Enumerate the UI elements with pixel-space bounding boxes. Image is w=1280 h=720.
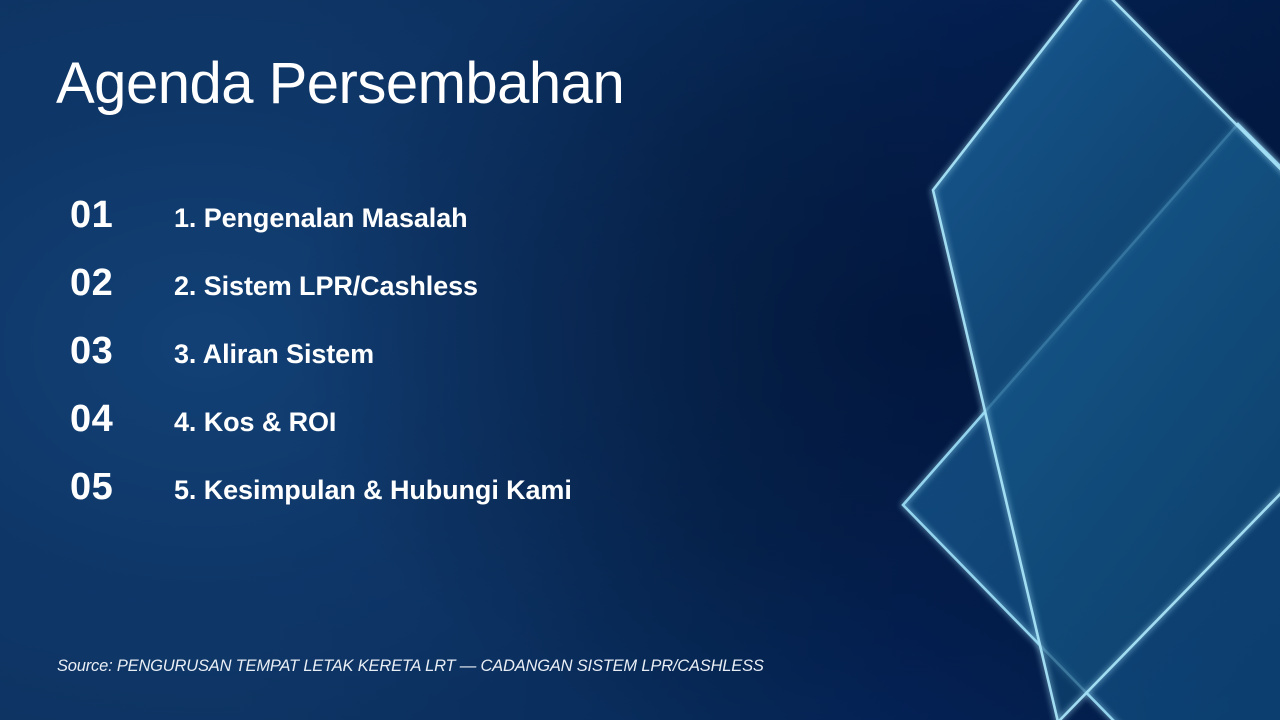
agenda-list: 01 1. Pengenalan Masalah 02 2. Sistem LP… — [56, 196, 756, 536]
agenda-item-label: 2. Sistem LPR/Cashless — [174, 273, 478, 300]
agenda-item-03[interactable]: 03 3. Aliran Sistem — [56, 332, 756, 400]
agenda-item-01[interactable]: 01 1. Pengenalan Masalah — [56, 196, 756, 264]
agenda-item-04[interactable]: 04 4. Kos & ROI — [56, 400, 756, 468]
presentation-slide: Agenda Persembahan 01 1. Pengenalan Masa… — [0, 0, 1280, 720]
agenda-item-label: 1. Pengenalan Masalah — [174, 205, 468, 232]
agenda-item-number: 05 — [56, 468, 174, 506]
page-title: Agenda Persembahan — [56, 52, 624, 117]
agenda-item-number: 02 — [56, 264, 174, 302]
source-note: Source: PENGURUSAN TEMPAT LETAK KERETA L… — [57, 657, 764, 676]
agenda-item-number: 01 — [56, 196, 174, 234]
agenda-item-label: 3. Aliran Sistem — [174, 341, 374, 368]
agenda-item-label: 4. Kos & ROI — [174, 409, 336, 436]
agenda-item-number: 03 — [56, 332, 174, 370]
agenda-item-number: 04 — [56, 400, 174, 438]
agenda-item-05[interactable]: 05 5. Kesimpulan & Hubungi Kami — [56, 468, 756, 536]
agenda-item-02[interactable]: 02 2. Sistem LPR/Cashless — [56, 264, 756, 332]
agenda-item-label: 5. Kesimpulan & Hubungi Kami — [174, 477, 572, 504]
